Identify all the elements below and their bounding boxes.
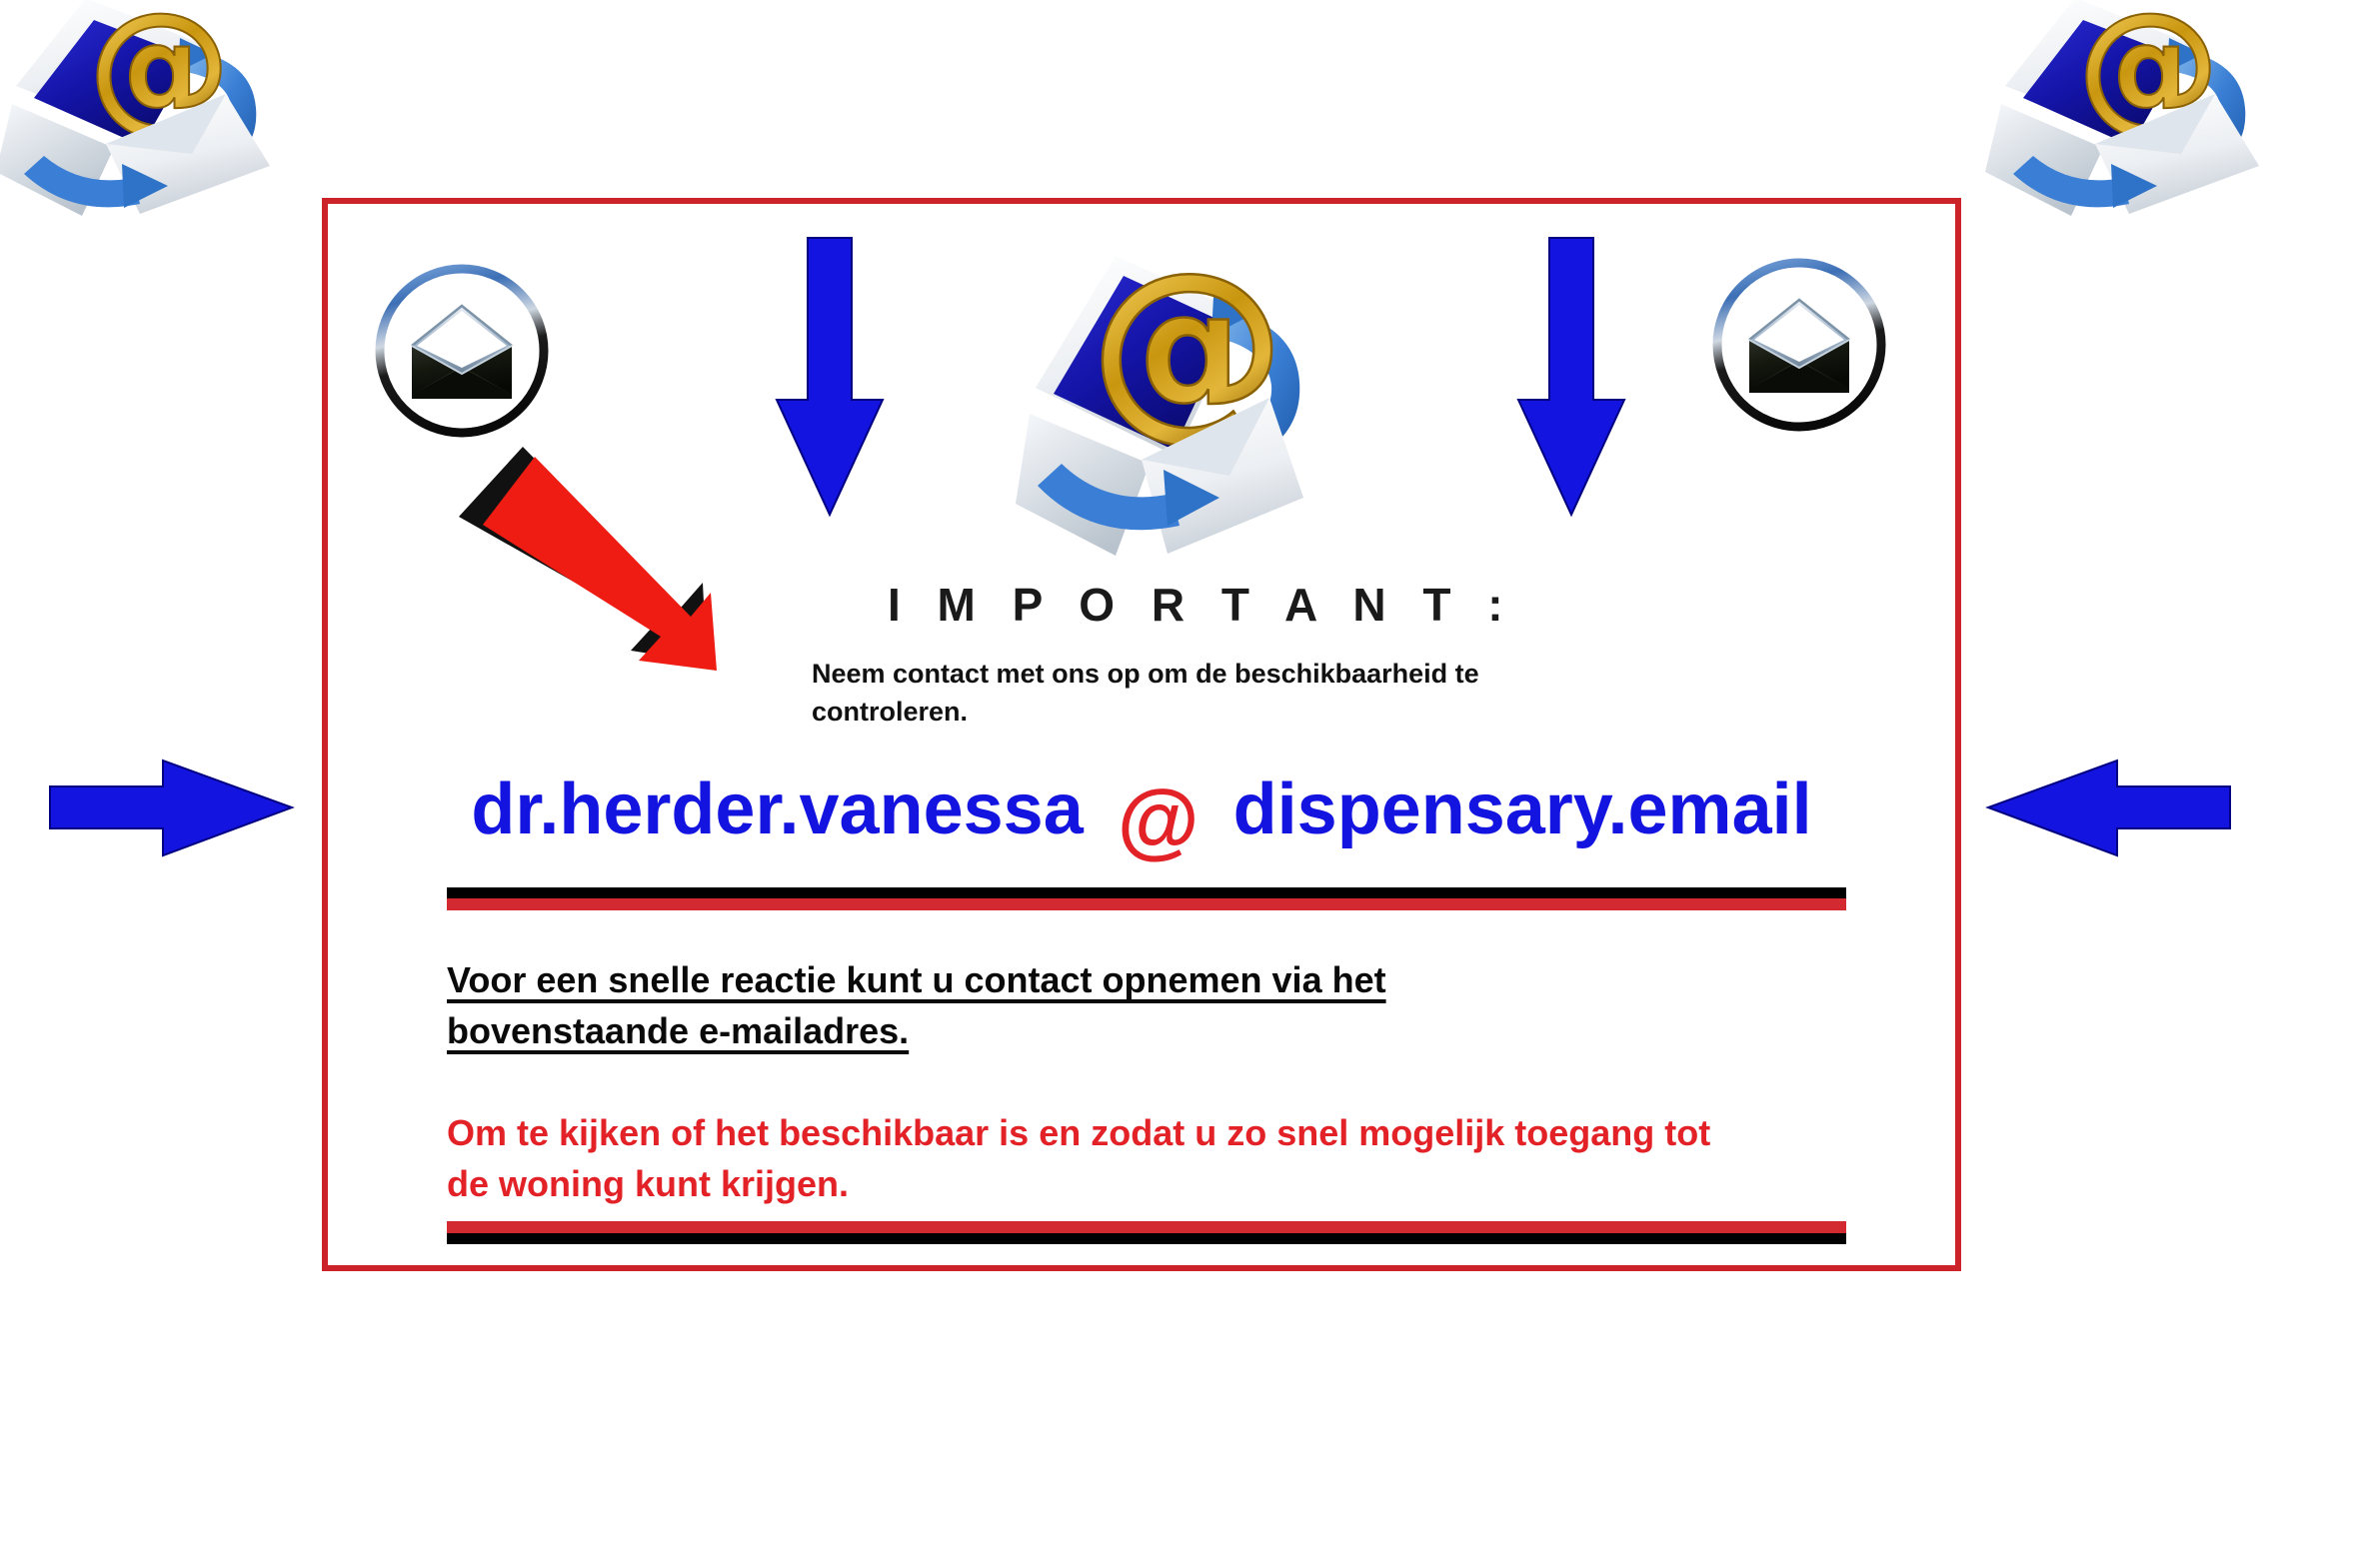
arrow-diagonal-icon — [445, 435, 735, 675]
divider-red-bar — [447, 898, 1846, 910]
arrow-down-icon — [1511, 232, 1631, 522]
email-at-envelope-icon: @ — [1983, 0, 2303, 216]
poster-canvas: @ @ — [0, 0, 2380, 1552]
divider-rule-bottom — [447, 1221, 1846, 1244]
page-title: I M P O R T A N T : — [888, 578, 1515, 632]
email-at-envelope-icon: @ — [0, 0, 314, 216]
arrow-right-icon — [46, 756, 296, 860]
arrow-down-icon — [770, 232, 890, 522]
notice-subtitle: Neem contact met ons op om de beschikbaa… — [812, 655, 1611, 732]
at-symbol-icon: @ — [1118, 777, 1199, 861]
divider-red-bar — [447, 1221, 1846, 1233]
divider-rule-top — [447, 887, 1846, 910]
divider-black-bar — [447, 887, 1846, 898]
email-domain-part[interactable]: dispensary.email — [1233, 774, 1812, 845]
email-at-envelope-icon: @ — [1008, 218, 1307, 558]
circle-envelope-icon — [362, 258, 562, 448]
instruction-paragraph: Voor een snelle reactie kunt u contact o… — [447, 954, 1626, 1056]
email-local-part[interactable]: dr.herder.vanessa — [471, 774, 1083, 845]
circle-envelope-icon — [1699, 252, 1899, 442]
divider-black-bar — [447, 1233, 1846, 1244]
email-address-row: dr.herder.vanessa @ dispensary.email — [322, 754, 1961, 865]
arrow-left-icon — [1984, 756, 2234, 860]
reason-paragraph: Om te kijken of het beschikbaar is en zo… — [447, 1107, 1746, 1209]
instruction-text: Voor een snelle reactie kunt u contact o… — [447, 959, 1386, 1051]
